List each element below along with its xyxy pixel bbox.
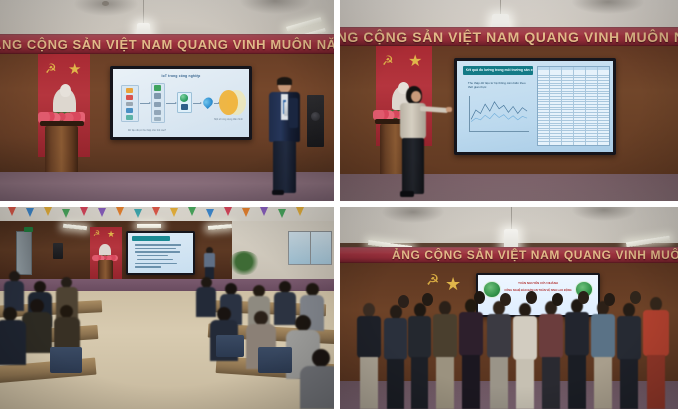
bunting-flag (224, 207, 232, 216)
projection-screen-frame (126, 231, 195, 275)
male-presenter (265, 78, 303, 196)
presenter-shoe (272, 190, 284, 195)
audience-head (312, 349, 330, 367)
member-legs (360, 357, 378, 409)
slide-title: IoT trong công nghiệp (113, 74, 249, 78)
member-legs (462, 355, 480, 409)
audience-head (254, 311, 268, 325)
panel-top-right: ẢNG CỘNG SẢN VIỆT NAM QUANG VINH MUÔN NĂ… (340, 0, 678, 201)
audience-body (0, 320, 26, 365)
audience-head (295, 315, 311, 331)
gateway-icon (154, 117, 161, 122)
window-mullion (310, 232, 311, 264)
member-legs (436, 357, 454, 409)
group-member (538, 301, 564, 409)
member-torso (617, 316, 641, 360)
loudspeaker (53, 243, 63, 259)
group-member (458, 299, 484, 409)
presenter-top (204, 253, 215, 268)
data-table (537, 66, 610, 146)
potted-plant (228, 251, 260, 275)
projection-screen: IoT trong công nghiệp (113, 69, 249, 137)
venn-circle-left (219, 90, 238, 114)
bunting-flag (152, 207, 160, 216)
presenter-hand (446, 107, 452, 112)
bunting-flag (278, 209, 286, 218)
member-torso (433, 314, 457, 358)
projection-screen-frame: IoT trong công nghiệp (110, 66, 252, 140)
group-member (564, 299, 590, 409)
gold-star-icon: ★ (68, 62, 81, 77)
member-legs (594, 357, 612, 409)
member-head (526, 291, 537, 304)
server-icon (181, 104, 188, 109)
slide-bullet-line (135, 244, 182, 246)
microphone (284, 102, 288, 116)
slide-title: Kết quả đo lường trong môi trường sản xu… (466, 68, 533, 72)
flow-arrow (193, 103, 201, 104)
panel-bottom-right: ẢNG CỘNG SẢN VIỆT NAM QUANG VINH MUÔN NĂ… (340, 207, 678, 409)
slide-bullet-line (135, 263, 178, 265)
bunting-flag (44, 207, 52, 216)
member-torso (459, 312, 483, 356)
gold-star-icon: ★ (445, 275, 461, 293)
bunting-flag (134, 209, 142, 218)
door (16, 231, 32, 275)
event-title-line-2: CÔNG NGHỆ BẢO ĐẢM AN TOÀN VỆ SINH LAO ĐỘ… (503, 289, 573, 292)
bunting-flag (242, 208, 250, 217)
line-chart (469, 96, 528, 132)
device-icon (126, 102, 133, 107)
presenter-legs (273, 141, 296, 193)
hammer-sickle-icon: ☭ (45, 62, 57, 75)
device-icon (126, 108, 133, 113)
group-member (590, 301, 616, 409)
projection-screen-frame: Kết quả đo lường trong môi trường sản xu… (454, 58, 616, 155)
device-icon (126, 88, 133, 93)
event-title-line-1: TUẦN NGUYÊN CỨU NHÂNH (503, 282, 573, 286)
hammer-sickle-icon: ☭ (426, 273, 439, 288)
audience-member (300, 349, 334, 409)
audience-head (3, 307, 17, 321)
banner-text: ẢNG CỘNG SẢN VIỆT NAM QUANG VINH MUÔN NĂ… (0, 37, 334, 52)
member-legs (620, 359, 638, 409)
flow-arrow (140, 103, 150, 104)
gateway-icon (154, 93, 161, 98)
group-member (356, 303, 382, 409)
slide-title-bar (132, 236, 170, 241)
bunting-flag (188, 207, 196, 216)
member-head (500, 293, 511, 306)
member-torso (357, 316, 381, 358)
tube-light-icon (137, 224, 161, 228)
member-head (604, 293, 615, 306)
slide-bullet-line (137, 255, 168, 256)
bunting-flag (62, 209, 70, 218)
pendant-rod (511, 207, 512, 229)
pendant-rod (500, 0, 501, 15)
hammer-sickle-icon: ☭ (382, 54, 394, 67)
gateway-icon (154, 102, 161, 107)
member-head (519, 303, 531, 317)
party-slogan-banner: ẢNG CỘNG SẢN VIỆT NAM QUANG VINH MUÔN NĂ… (340, 247, 678, 263)
device-icon (126, 95, 133, 100)
member-torso (408, 316, 431, 358)
group-member (642, 297, 670, 409)
slide-bullet-line (135, 266, 161, 268)
member-head (623, 303, 635, 317)
slide-bullet: Thu thập dữ liệu từ hệ thống cảm biến th… (468, 81, 530, 90)
floor (340, 174, 678, 201)
member-torso (539, 314, 563, 358)
window (288, 231, 332, 265)
member-torso (643, 310, 669, 356)
slide-footnote: Dữ liệu được thu thập như thế nào? (124, 129, 170, 132)
bunting-flag (206, 209, 214, 218)
member-legs (411, 357, 428, 409)
exit-sign (24, 227, 33, 232)
bunting-flag (170, 208, 178, 217)
slide-bullet-line (135, 251, 181, 253)
panel-bottom-left: ☭ ★ (0, 207, 334, 409)
member-head (439, 301, 451, 315)
member-head (578, 291, 589, 304)
bunting-flag (296, 207, 304, 216)
slide-bullet-line (137, 259, 173, 260)
chair (258, 347, 292, 373)
loudspeaker (307, 95, 324, 147)
bunting-flag (26, 208, 34, 217)
audience-member (0, 307, 26, 365)
member-torso (591, 314, 615, 358)
bunting-flag (116, 207, 124, 216)
chair (50, 347, 82, 373)
group-member (512, 303, 538, 409)
table-row (538, 139, 609, 142)
chart-line-series (470, 96, 528, 124)
presenter-arm (289, 98, 298, 128)
member-head (363, 303, 375, 317)
gold-star-icon: ★ (408, 54, 422, 70)
podium (45, 126, 78, 172)
member-head (552, 293, 563, 306)
gateway-icon (154, 85, 161, 90)
projection-screen: Kết quả đo lường trong môi trường sản xu… (457, 61, 613, 152)
gateway-icon (154, 110, 161, 115)
slide-caption: Một số ứng dụng điển hình (211, 118, 246, 121)
group-member (616, 303, 642, 409)
member-torso (513, 316, 537, 360)
analytics-icon (201, 95, 214, 108)
ceiling-fan-hub (102, 1, 109, 6)
flow-arrow (166, 103, 176, 104)
member-torso (487, 314, 511, 358)
group-member (408, 303, 432, 409)
member-head (422, 293, 433, 306)
member-legs (490, 357, 508, 409)
audience-member (4, 271, 24, 311)
gold-star-icon: ★ (107, 230, 115, 239)
chair (216, 335, 244, 357)
bunting-flag (8, 207, 16, 216)
audience-head (217, 307, 231, 321)
presenter-hair (277, 77, 292, 85)
bust-head (60, 84, 71, 97)
member-head (630, 291, 641, 304)
member-head (650, 297, 662, 311)
device-icon (126, 115, 133, 120)
projection-screen (128, 233, 193, 273)
group-member (384, 305, 408, 409)
banner-text: ẢNG CỘNG SẢN VIỆT NAM QUANG VINH MUÔN NĂ… (392, 248, 678, 262)
bunting-flag (260, 207, 268, 216)
pendant-rod (143, 0, 144, 24)
female-presenter (392, 86, 440, 201)
bunting-flags (0, 207, 334, 221)
bunting-flag (80, 207, 88, 216)
presenter-trousers (402, 138, 424, 194)
audience-body (22, 312, 52, 353)
speaker-cone (311, 112, 320, 121)
organization-logo-icon (483, 281, 501, 298)
member-legs (647, 355, 665, 409)
slide-iot-diagram: IoT trong công nghiệp (113, 69, 249, 137)
member-legs (387, 359, 404, 409)
slide-bullet-line (135, 248, 177, 250)
photo-collage: ẢNG CỘNG SẢN VIỆT NAM QUANG VINH MUÔN NĂ… (0, 0, 680, 410)
member-torso (565, 312, 589, 356)
panel-top-left: ẢNG CỘNG SẢN VIỆT NAM QUANG VINH MUÔN NĂ… (0, 0, 334, 201)
bunting-flag (98, 208, 106, 217)
member-torso (384, 318, 407, 360)
slide-measurement-table: Kết quả đo lường trong môi trường sản xu… (457, 61, 613, 152)
member-head (398, 295, 409, 308)
hammer-sickle-icon: ☭ (93, 230, 100, 238)
member-head (474, 291, 485, 304)
party-slogan-banner: ẢNG CỘNG SẢN VIỆT NAM QUANG VINH MUÔN NĂ… (0, 34, 334, 54)
member-legs (542, 357, 560, 409)
group-member (432, 301, 458, 409)
member-legs (516, 359, 534, 409)
slide-agenda (128, 233, 193, 273)
group-member (486, 301, 512, 409)
party-slogan-banner: ẢNG CỘNG SẢN VIỆT NAM QUANG VINH MUÔN NĂ… (340, 27, 678, 46)
presenter-shoe (400, 191, 414, 197)
presenter-face (411, 91, 421, 102)
audience-body (300, 366, 334, 409)
audience-head (30, 299, 44, 313)
banner-text: ẢNG CỘNG SẢN VIỆT NAM QUANG VINH MUÔN NĂ… (340, 29, 678, 45)
member-legs (568, 355, 586, 409)
audience-member (22, 299, 52, 353)
